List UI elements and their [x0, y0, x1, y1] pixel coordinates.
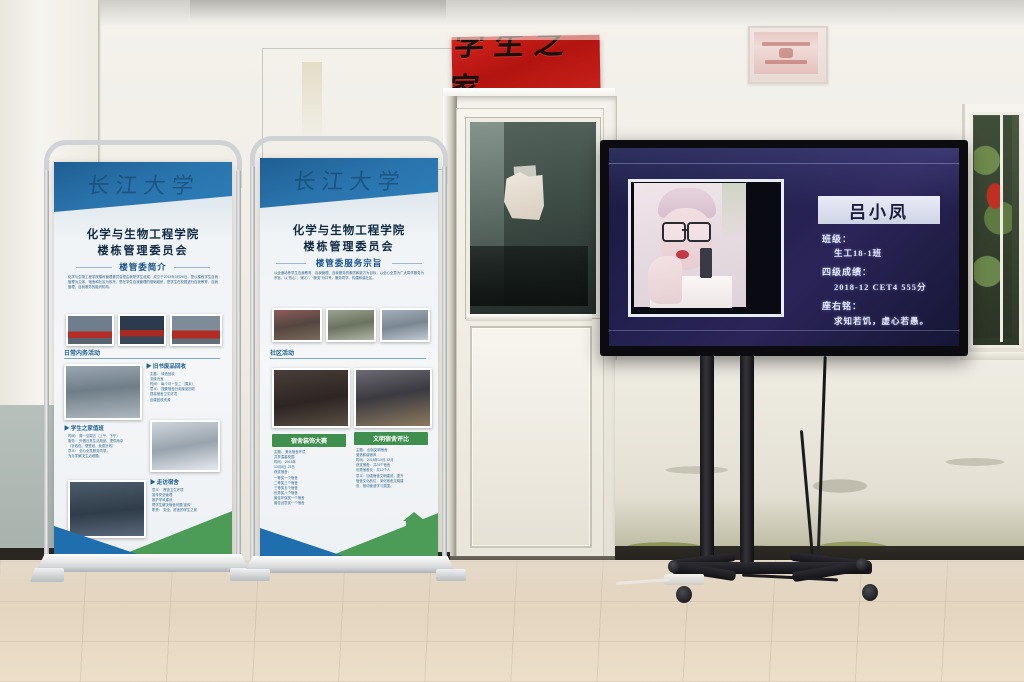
- banner-left-pole-right: [236, 170, 241, 570]
- ceiling-shadow: [0, 0, 1024, 26]
- banner-right-label-0: 宿舍装饰大赛: [272, 434, 346, 447]
- banner-left-watermark: 长江大学: [66, 168, 221, 218]
- photo-glasses-left-lens: [662, 222, 686, 242]
- banner-right-title-line1: 化学与生物工程学院: [260, 222, 438, 238]
- banner-right-photo-3: [380, 308, 430, 342]
- banner-left-title-line2: 楼栋管理委员会: [54, 242, 232, 258]
- slide-field-2-label: 座右铭：: [822, 299, 862, 312]
- door-mid-rail: [466, 314, 592, 321]
- banner-left-item-0-bullet: ▶ 旧书废品回收: [146, 362, 186, 370]
- banner-left-item-1-bullet: ▶ 学生之家值班: [64, 424, 104, 432]
- banner-right-photo-1: [272, 308, 322, 342]
- banner-left-item-0-lines: 主题： 绿色回收 变废为宝 时间： 每个月一至二（周末） 意义： 搜集宿舍日用废…: [150, 372, 226, 403]
- banner-right-photo-5: [354, 368, 432, 428]
- slide-name-plate: 吕小凤: [818, 196, 940, 224]
- window-foliage-view: [974, 116, 1012, 338]
- power-strip: [664, 574, 704, 585]
- banner-right-item-1-lines: 主题： 创创文明宿舍 营造和谐宿风 时间： 2018年10月-12月 获奖宿舍：…: [356, 448, 430, 489]
- red-banner-sign: 学生之家: [452, 35, 601, 92]
- photo-phone: [700, 248, 712, 278]
- banner-right-intro-text: 以全面培养学生自我教育、自我管理、自我服务的素质和能力为目标，以全心全意为广大同…: [274, 271, 424, 281]
- banner-right-foot-left: [240, 569, 270, 581]
- banner-right-face: 长江大学 化学与生物工程学院 楼栋管理委员会 楼管委服务宗旨 以全面培养学生自我…: [260, 158, 438, 564]
- banner-right-rule-r: [392, 263, 422, 264]
- banner-left-photo-1: [66, 314, 114, 346]
- banner-right-sec-heading-0: 社区活动: [270, 348, 294, 357]
- banner-left-item-2-bullet: ▶ 走访宿舍: [150, 478, 179, 486]
- tv-stand-post-right: [740, 356, 754, 572]
- tv-stand-caster-back-left: [668, 560, 680, 573]
- banner-right-pole: [250, 166, 255, 572]
- banner-right-photo-2: [326, 308, 376, 342]
- photo-scene: 学生之家 长江大学: [0, 0, 1024, 682]
- taped-paper-note: [504, 172, 544, 220]
- banner-left-photo-2: [118, 314, 166, 346]
- banner-left-title-line1: 化学与生物工程学院: [54, 226, 232, 242]
- rollup-banner-left[interactable]: 长江大学 化学与生物工程学院 楼栋管理委员会 楼管委简介 化学与生物工程学院楼栋…: [44, 140, 244, 580]
- ceiling-edge: [190, 0, 446, 20]
- rollup-banner-right[interactable]: 长江大学 化学与生物工程学院 楼栋管理委员会 楼管委服务宗旨 以全面培养学生自我…: [250, 136, 450, 576]
- banner-left-photo-3: [170, 314, 222, 346]
- red-banner-text: 学生之家: [452, 35, 601, 92]
- tv-stand-caster-back-right: [856, 558, 868, 571]
- banner-right-photo-4: [272, 368, 350, 428]
- banner-left-rule-r: [174, 267, 210, 268]
- red-banner-tape: [446, 32, 606, 40]
- banner-left-pole: [44, 170, 49, 570]
- banner-left-footer-wedges: [54, 500, 232, 562]
- slide-field-1-label: 四级成绩：: [822, 265, 872, 278]
- banner-right-item-0-lines: 主题： 美化宿舍环境 共享温馨校园 时间： 2018年 10月8日-23日 获奖…: [274, 450, 348, 506]
- tv-stand-caster-front-right: [862, 584, 878, 601]
- door-glass-dark-area: [470, 246, 588, 306]
- photo-background-foliage: [722, 183, 746, 237]
- banner-left-photo-5: [150, 420, 220, 472]
- banner-right-foot-right: [436, 569, 466, 581]
- banner-left-sec-heading-0: 日常内务活动: [64, 348, 100, 357]
- wall-stain: [302, 62, 322, 142]
- window-mullion: [1000, 112, 1003, 342]
- banner-left-photo-4: [64, 364, 142, 420]
- tv-screen-band-top: [609, 163, 959, 164]
- door-lower-panel: [470, 326, 592, 548]
- photo-glasses-bridge: [682, 229, 687, 231]
- wall-plaque-face: [754, 32, 818, 74]
- slide-student-name: 吕小凤: [849, 198, 909, 223]
- banner-right-base: [244, 556, 456, 573]
- banner-left-base: [36, 554, 250, 572]
- tv-stand-post-left: [700, 356, 714, 572]
- banner-left-sec-rule: [64, 358, 220, 359]
- banner-left-face: 长江大学 化学与生物工程学院 楼栋管理委员会 楼管委简介 化学与生物工程学院楼栋…: [54, 162, 232, 562]
- banner-right-footer-wedges: [260, 502, 438, 564]
- slide-field-0-value: 生工18-1班: [834, 247, 882, 259]
- photo-hand: [648, 256, 682, 304]
- slide-field-2-value: 求知若饥，虚心若愚。: [834, 315, 929, 327]
- banner-left-foot-left: [30, 568, 64, 582]
- banner-left-item-1-lines: 时间： 周一至周五（上午、下午） 服务： 外借日常生活用品、提供雨伞 （针线包、…: [68, 434, 144, 460]
- banner-right-pole-right: [442, 166, 447, 572]
- photo-glasses-right-lens: [687, 222, 711, 242]
- slide-field-0-label: 班级：: [822, 232, 852, 245]
- slide-field-1-value: 2018-12 CET4 555分: [834, 281, 927, 293]
- tv-stand-caster-front-left: [676, 586, 692, 603]
- banner-right-watermark: 长江大学: [272, 164, 427, 214]
- banner-right-title-line2: 楼栋管理委员会: [260, 238, 438, 254]
- banner-right-label-1: 文明宿舍评比: [354, 432, 428, 445]
- banner-left-intro-text: 化学与生物工程学院楼栋管理委员会是由我院学生组成，成立于2013年3月26日，是…: [68, 275, 218, 290]
- banner-right-sec-rule: [270, 358, 426, 359]
- tv-screen-band-bottom: [609, 330, 959, 331]
